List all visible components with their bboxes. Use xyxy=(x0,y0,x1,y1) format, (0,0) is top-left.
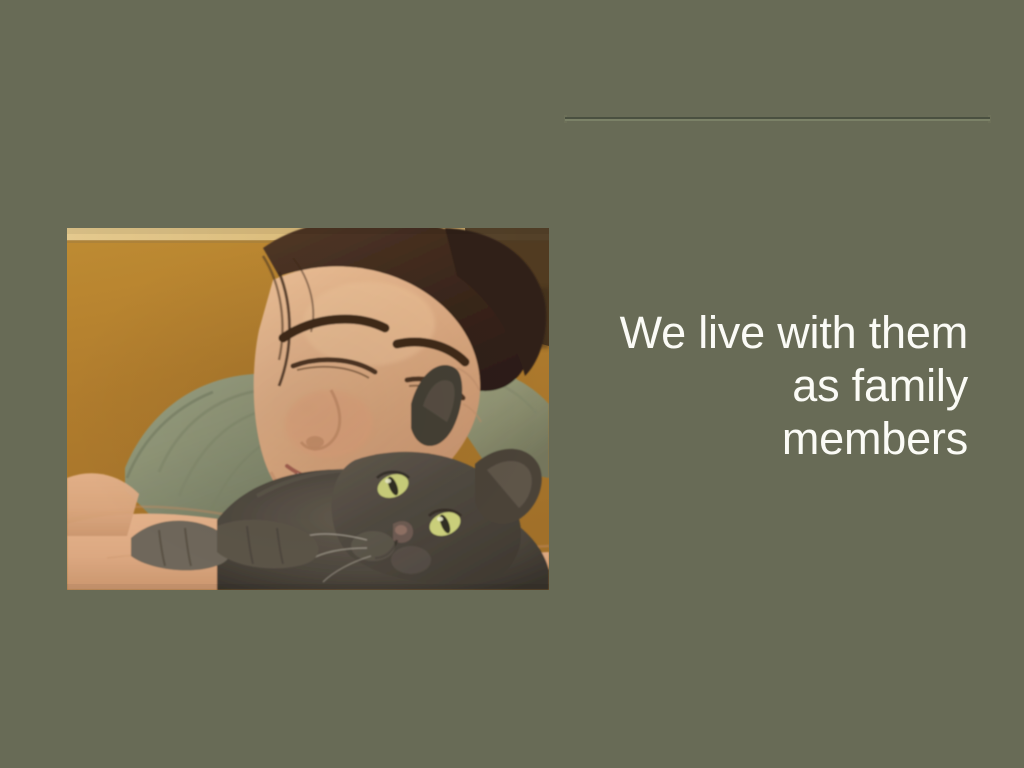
photo-woman-with-cat xyxy=(67,228,549,590)
slide-body-text: We live with them as family members xyxy=(560,306,968,465)
photo-illustration xyxy=(67,228,549,590)
slide-canvas: We live with them as family members xyxy=(0,0,1024,768)
rule-highlight-stroke xyxy=(565,119,990,121)
horizontal-rule xyxy=(565,117,990,121)
